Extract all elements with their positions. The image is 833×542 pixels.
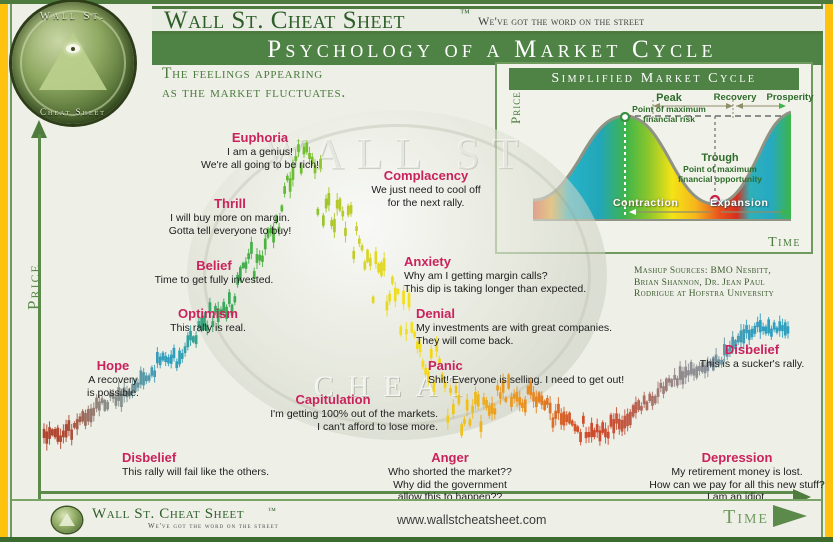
- annotation-line: This is a sucker's rally.: [700, 358, 805, 370]
- annotation-title: Thrill: [132, 196, 328, 212]
- footer-time-arrow-icon: [773, 505, 807, 527]
- footer-brand: Wall St. Cheat Sheet: [92, 506, 244, 523]
- annotation-line: Gotta tell everyone to buy!: [169, 225, 292, 237]
- annotation-line: I can't afford to lose more.: [317, 421, 438, 433]
- brand-title: Wall St. Cheat Sheet: [164, 7, 405, 35]
- annotation-anger: Anger Who shorted the market?? Why did t…: [350, 450, 550, 504]
- frame-left-gold-strip: [0, 0, 8, 542]
- recovery-label: Recovery: [705, 92, 765, 103]
- simplified-cycle-title-band: Simplified Market Cycle: [509, 68, 799, 90]
- annotation-hope: Hope A recovery is possible.: [70, 358, 156, 399]
- annotation-line: We just need to cool off: [371, 184, 480, 196]
- page-title: Psychology of a Market Cycle: [162, 34, 822, 65]
- annotation-euphoria: Euphoria I am a genius! We're all going …: [162, 130, 358, 171]
- annotation-anxiety: Anxiety Why am I getting margin calls? T…: [404, 254, 654, 295]
- brand-trademark-icon: ™: [460, 8, 470, 19]
- annotation-title: Panic: [428, 358, 708, 374]
- annotation-line: is possible.: [87, 387, 139, 399]
- footer-tagline: We've got the word on the street: [148, 522, 279, 530]
- annotation-optimism: Optimism This rally is real.: [138, 306, 278, 335]
- frame-top-green-strip: [0, 0, 833, 4]
- annotation-complacency: Complacency We just need to cool off for…: [336, 168, 516, 209]
- seal-bottom-text: Cheat Sheet: [12, 107, 134, 117]
- footer-url[interactable]: www.wallstcheatsheet.com: [397, 513, 546, 527]
- annotation-title: Belief: [124, 258, 304, 274]
- subheadline-line1: The feelings appearing: [162, 64, 346, 83]
- annotation-thrill: Thrill I will buy more on margin. Gotta …: [132, 196, 328, 237]
- annotation-line: My investments are with great companies.: [416, 322, 612, 334]
- annotation-denial: Denial My investments are with great com…: [416, 306, 676, 347]
- annotation-title: Depression: [632, 450, 833, 466]
- annotation-line: They will come back.: [416, 335, 513, 347]
- annotation-capitulation: Capitulation I'm getting 100% out of the…: [228, 392, 438, 433]
- annotation-title: Disbelief: [682, 342, 822, 358]
- annotation-line: A recovery: [88, 374, 138, 386]
- annotation-line: This dip is taking longer than expected.: [404, 283, 586, 295]
- annotation-line: This rally is real.: [170, 322, 246, 334]
- annotation-line: Why am I getting margin calls?: [404, 270, 548, 282]
- annotation-line: I will buy more on margin.: [170, 212, 290, 224]
- seal-top-text: Wall St.: [12, 10, 134, 22]
- simplified-cycle-title: Simplified Market Cycle: [509, 68, 799, 90]
- annotation-line: Who shorted the market??: [388, 466, 512, 478]
- annotation-panic: Panic Shit! Everyone is selling. I need …: [428, 358, 708, 387]
- subheadline: The feelings appearing as the market flu…: [162, 64, 346, 102]
- annotation-title: Complacency: [336, 168, 516, 184]
- wall-st-seal-logo: Wall St. Cheat Sheet: [12, 2, 134, 124]
- annotation-disbelief-upper: Disbelief This is a sucker's rally.: [682, 342, 822, 371]
- subheadline-line2: as the market fluctuates.: [162, 83, 346, 102]
- annotation-title: Euphoria: [162, 130, 358, 146]
- main-chart: WALL ST CHEAT Price Hope A recovery is p…: [12, 120, 821, 500]
- annotation-title: Anger: [350, 450, 550, 466]
- annotation-title: Hope: [70, 358, 156, 374]
- seal-ring: [20, 10, 126, 116]
- footer-seal-icon: [52, 507, 82, 533]
- annotation-line: I'm getting 100% out of the markets.: [270, 408, 438, 420]
- footer-trademark-icon: ™: [268, 506, 276, 515]
- annotation-title: Anxiety: [404, 254, 654, 270]
- annotation-title: Optimism: [138, 306, 278, 322]
- annotation-line: Time to get fully invested.: [155, 274, 274, 286]
- annotation-title: Capitulation: [228, 392, 438, 408]
- annotation-line: We're all going to be rich!: [201, 159, 319, 171]
- annotation-title: Denial: [416, 306, 676, 322]
- prosperity-label: Prosperity: [759, 92, 821, 103]
- annotation-line: Shit! Everyone is selling. I need to get…: [428, 374, 624, 386]
- infographic-page: Wall St. Cheat Sheet ™ We've got the wor…: [0, 0, 833, 542]
- annotation-disbelief-lower: Disbelief This rally will fail like the …: [122, 450, 372, 479]
- footer: Wall St. Cheat Sheet ™ We've got the wor…: [12, 499, 821, 537]
- annotation-belief: Belief Time to get fully invested.: [124, 258, 304, 287]
- annotation-line: This rally will fail like the others.: [122, 466, 269, 478]
- annotation-line: I am a genius!: [227, 146, 293, 158]
- annotation-line: Why did the government: [393, 479, 507, 491]
- annotation-line: My retirement money is lost.: [671, 466, 802, 478]
- annotation-title: Disbelief: [122, 450, 372, 466]
- footer-time-label: Time: [723, 506, 769, 529]
- peak-sub-line1: Point of maximum: [609, 104, 729, 114]
- frame-bottom-green-strip: [0, 537, 833, 542]
- annotation-line: for the next rally.: [388, 197, 465, 209]
- brand-tagline: We've got the word on the street: [478, 14, 644, 29]
